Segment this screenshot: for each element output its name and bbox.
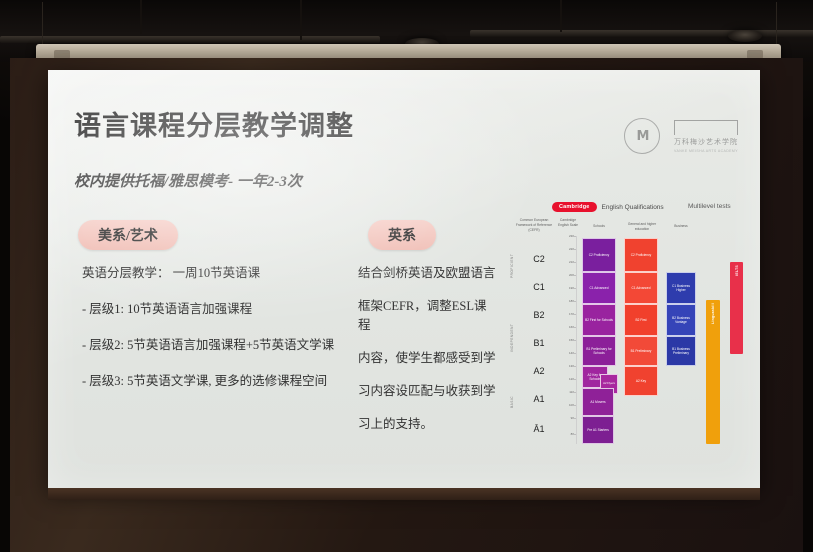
column-header-business: Business — [666, 224, 696, 229]
scale-tick — [572, 353, 576, 354]
badge-uk-track: 英系 — [368, 220, 436, 250]
scale-tick — [572, 418, 576, 419]
multilevel-tests-title: Multilevel tests — [688, 203, 731, 210]
wordmark-arc-icon — [674, 120, 738, 135]
scale-tick — [572, 392, 576, 393]
qualification-block: B1 Preliminary — [624, 336, 658, 366]
academy-wordmark: 万科梅沙艺术学院 VANKE MEISHA ARTS ACADEMY — [674, 120, 738, 153]
scale-tick — [572, 301, 576, 302]
qualification-block: C1 Advanced — [624, 272, 658, 304]
scale-axis-line — [576, 236, 577, 444]
scale-tick — [572, 366, 576, 367]
screen-wire — [776, 2, 777, 48]
qualification-block: C2 Proficiency — [582, 238, 616, 272]
cambridge-badge: Cambridge — [552, 202, 597, 212]
right-column: 结合剑桥英语及欧盟语言 框架CEFR，调整ESL课程 内容，使学生都感受到学 习… — [358, 262, 498, 446]
qualification-block: B2 First — [624, 304, 658, 336]
multilevel-bar-label: IELTS — [735, 265, 739, 276]
multilevel-bar-linguaskill: Linguaskill — [706, 300, 720, 444]
multilevel-bar-ielts: IELTS — [730, 262, 743, 354]
projection-screen: 语言课程分层教学调整 校内提供托福/雅思模考- 一年2-3次 M 万科梅沙艺术学… — [48, 70, 760, 490]
paragraph-line: 习内容设匹配与收获到学 — [358, 380, 498, 399]
qualification-block: C1 Business Higher — [666, 272, 696, 304]
cefr-level-a1: A1 — [528, 394, 550, 404]
list-item: 英语分层教学： 一周10节英语课 — [82, 262, 350, 281]
cefr-level-a2: A2 — [528, 366, 550, 376]
ceiling-drop — [140, 0, 142, 34]
academy-emblem-icon: M — [624, 118, 660, 154]
ceiling-light — [728, 30, 762, 42]
slide: 语言课程分层教学调整 校内提供托福/雅思模考- 一年2-3次 M 万科梅沙艺术学… — [48, 70, 760, 490]
axis-header-cefr: Common European Framework of Reference (… — [514, 218, 554, 232]
qualification-block: B1 Business Preliminary — [666, 336, 696, 366]
emblem-mark: M — [637, 129, 648, 144]
scale-tick — [572, 275, 576, 276]
paragraph-line: 框架CEFR，调整ESL课程 — [358, 295, 498, 333]
multilevel-bar-label: Linguaskill — [711, 303, 715, 324]
scale-tick — [572, 262, 576, 263]
ceiling-drop — [300, 0, 302, 40]
cefr-level-c1: C1 — [528, 282, 550, 292]
slide-subtitle: 校内提供托福/雅思模考- 一年2-3次 — [74, 170, 302, 191]
qualification-block: C1 Advanced — [582, 272, 616, 304]
cambridge-qualifications-chart: Cambridge English Qualifications Multile… — [506, 202, 748, 442]
qualification-block: B2 Business Vantage — [666, 304, 696, 336]
page-title: 语言课程分层教学调整 — [74, 104, 354, 143]
scale-tick — [572, 434, 576, 435]
wordmark-cn: 万科梅沙艺术学院 — [674, 137, 738, 147]
scale-tick — [572, 288, 576, 289]
room-background: 语言课程分层教学调整 校内提供托福/雅思模考- 一年2-3次 M 万科梅沙艺术学… — [0, 0, 813, 552]
scale-tick — [572, 314, 576, 315]
column-header-general: General and higher education — [624, 222, 660, 232]
scale-tick — [572, 379, 576, 380]
scale-tick — [572, 340, 576, 341]
paragraph-line: 习上的支持。 — [358, 413, 498, 432]
screen-bottom-edge — [48, 488, 760, 500]
ceiling-rail-left — [0, 36, 380, 43]
cefr-level-pre-a1: Ā1 — [528, 424, 550, 434]
left-column: 英语分层教学： 一周10节英语课 - 层级1: 10节英语语言加强课程 - 层级… — [82, 262, 350, 406]
band-proficient: PROFICIENT — [510, 254, 514, 278]
paragraph-line: 内容，使学生都感受到学 — [358, 347, 498, 366]
badge-arts-track: 美系/艺术 — [78, 220, 178, 250]
qualification-block: B1 Preliminary for Schools — [582, 336, 616, 366]
list-item: - 层级3: 5节英语文学课, 更多的选修课程空间 — [82, 370, 350, 389]
band-basic: BASIC — [510, 396, 514, 408]
paragraph-line: 结合剑桥英语及欧盟语言 — [358, 262, 498, 281]
chart-title: English Qualifications — [602, 204, 664, 211]
qualification-block: B2 First for Schools — [582, 304, 616, 336]
ceiling-drop — [560, 0, 562, 32]
screen-wire — [42, 2, 43, 48]
scale-tick — [572, 327, 576, 328]
list-item: - 层级2: 5节英语语言加强课程+5节英语文学课 — [82, 334, 350, 353]
axis-header-scale: Cambridge English Scale — [556, 218, 580, 228]
band-independent: INDEPENDENT — [510, 324, 514, 352]
scale-tick — [572, 236, 576, 237]
qualification-block: A1 Movers — [582, 388, 614, 416]
cefr-level-b2: B2 — [528, 310, 550, 320]
list-item: - 层级1: 10节英语语言加强课程 — [82, 298, 350, 317]
logo-group: M 万科梅沙艺术学院 VANKE MEISHA ARTS ACADEMY — [624, 118, 738, 154]
cefr-level-b1: B1 — [528, 338, 550, 348]
chart-brand-header: Cambridge English Qualifications — [552, 202, 664, 212]
wordmark-en: VANKE MEISHA ARTS ACADEMY — [674, 149, 738, 153]
qualification-block: A2 Key — [624, 366, 658, 396]
qualification-block: C2 Proficiency — [624, 238, 658, 272]
cefr-level-c2: C2 — [528, 254, 550, 264]
qualification-block: Pre A1 Starters — [582, 416, 614, 444]
column-header-schools: Schools — [582, 224, 616, 229]
scale-tick — [572, 405, 576, 406]
scale-tick — [572, 249, 576, 250]
